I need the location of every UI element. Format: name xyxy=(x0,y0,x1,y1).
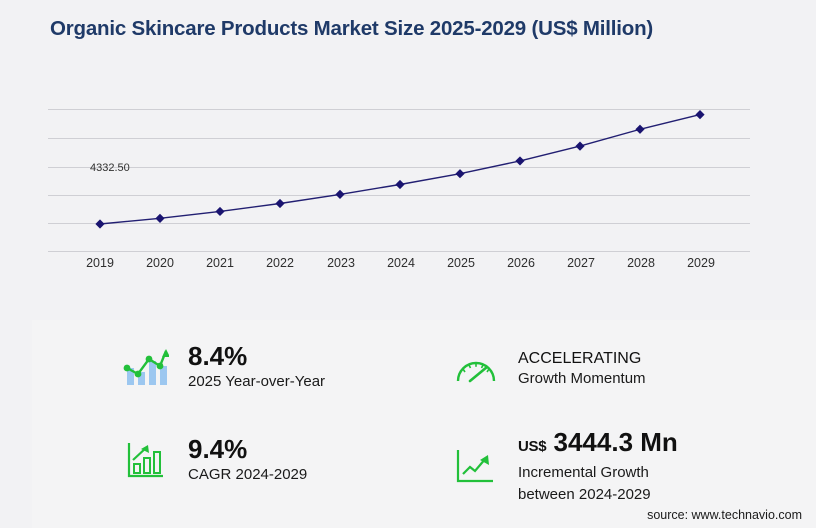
x-tick-2020: 2020 xyxy=(130,256,190,270)
stat-value-momentum: ACCELERATING xyxy=(518,348,646,369)
stat-caption-yoy: 2025 Year-over-Year xyxy=(188,372,325,392)
infographic-canvas: Organic Skincare Products Market Size 20… xyxy=(0,0,816,528)
x-tick-2026: 2026 xyxy=(491,256,551,270)
x-tick-2029: 2029 xyxy=(671,256,731,270)
data-point-marker xyxy=(515,156,524,165)
stat-card-yoy: 8.4% 2025 Year-over-Year xyxy=(120,342,325,392)
x-tick-2025: 2025 xyxy=(431,256,491,270)
chart-series-svg xyxy=(48,100,750,252)
trend-arrow-icon xyxy=(450,443,502,491)
data-point-marker xyxy=(575,142,584,151)
stat-text-incremental: US$ 3444.3 Mn Incremental Growth between… xyxy=(518,428,678,505)
data-point-marker xyxy=(695,110,704,119)
x-tick-2019: 2019 xyxy=(70,256,130,270)
stat-caption-momentum: Growth Momentum xyxy=(518,369,646,389)
x-tick-2022: 2022 xyxy=(250,256,310,270)
bar-line-growth-icon xyxy=(120,343,172,391)
stat-amount-incremental: 3444.3 Mn xyxy=(554,427,678,457)
line-chart: 4332.50 xyxy=(48,100,750,252)
bar-chart-arrow-icon xyxy=(120,436,172,484)
x-tick-2027: 2027 xyxy=(551,256,611,270)
stat-value-yoy: 8.4% xyxy=(188,342,325,370)
x-tick-2021: 2021 xyxy=(190,256,250,270)
x-axis-labels: 2019 2020 2021 2022 2023 2024 2025 2026 … xyxy=(48,256,750,278)
stat-caption-cagr: CAGR 2024-2029 xyxy=(188,465,307,485)
page-title: Organic Skincare Products Market Size 20… xyxy=(50,14,750,44)
data-point-marker xyxy=(635,125,644,134)
stat-caption2-incremental: between 2024-2029 xyxy=(518,485,678,505)
first-point-value-label: 4332.50 xyxy=(90,162,130,174)
stat-text-yoy: 8.4% 2025 Year-over-Year xyxy=(188,342,325,392)
stats-panel: 8.4% 2025 Year-over-Year ACCELERATING xyxy=(32,320,816,528)
stat-card-cagr: 9.4% CAGR 2024-2029 xyxy=(120,435,307,485)
speedometer-icon xyxy=(450,344,502,392)
x-tick-2023: 2023 xyxy=(311,256,371,270)
x-tick-2028: 2028 xyxy=(611,256,671,270)
stat-text-cagr: 9.4% CAGR 2024-2029 xyxy=(188,435,307,485)
stat-caption-incremental: Incremental Growth xyxy=(518,463,678,483)
stat-value-cagr: 9.4% xyxy=(188,435,307,463)
data-point-marker xyxy=(335,190,344,199)
stat-value-incremental: US$ 3444.3 Mn xyxy=(518,428,678,461)
stat-unit-incremental: US$ xyxy=(518,438,546,455)
x-tick-2024: 2024 xyxy=(371,256,431,270)
data-point-marker xyxy=(395,180,404,189)
data-point-marker xyxy=(215,207,224,216)
data-point-marker xyxy=(455,169,464,178)
stat-card-momentum: ACCELERATING Growth Momentum xyxy=(450,344,646,392)
data-point-marker xyxy=(155,214,164,223)
source-credit: source: www.technavio.com xyxy=(647,508,802,522)
data-point-marker xyxy=(275,199,284,208)
stat-card-incremental: US$ 3444.3 Mn Incremental Growth between… xyxy=(450,428,678,505)
data-point-marker xyxy=(95,219,104,228)
stat-text-momentum: ACCELERATING Growth Momentum xyxy=(518,348,646,389)
